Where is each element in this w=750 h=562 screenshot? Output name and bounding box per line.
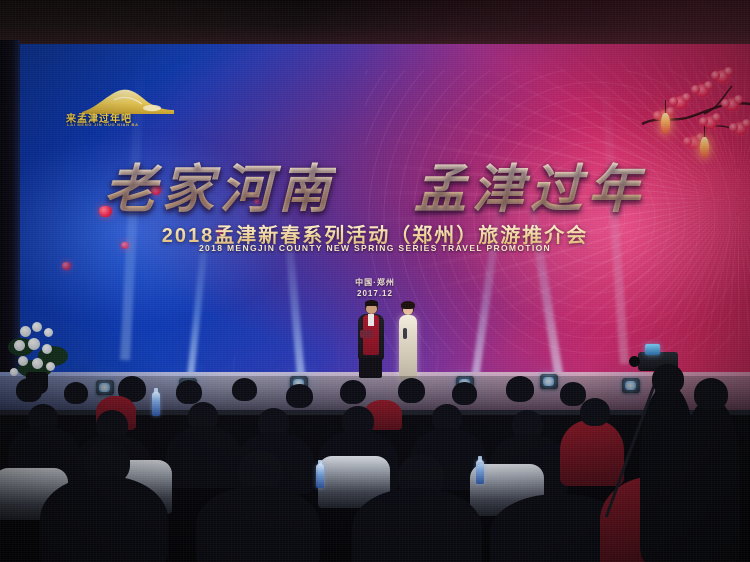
water-bottle — [152, 392, 160, 416]
ceiling-sheen — [0, 0, 750, 48]
male-host — [356, 300, 386, 378]
bystander — [682, 400, 740, 562]
blossom-icon — [726, 98, 739, 111]
blossom-icon — [734, 122, 747, 135]
audience-head — [64, 382, 88, 404]
audience-head — [580, 398, 610, 426]
blossom-icon — [716, 70, 729, 83]
audience-body — [560, 420, 624, 486]
logo-text-pinyin: LAI MENG JIN GUO NIAN BA — [67, 122, 139, 127]
place-label: 中国·郑州 2017.12 — [0, 277, 750, 299]
bystander-head — [694, 378, 728, 410]
event-logo: 来孟津过年吧 LAI MENG JIN GUO NIAN BA — [58, 86, 178, 132]
ceiling-band — [0, 0, 750, 48]
blossom-icon — [704, 116, 717, 129]
audience-head — [560, 382, 586, 406]
audience-head — [340, 380, 366, 404]
audience-body — [352, 488, 482, 562]
blossom-icon — [696, 84, 709, 97]
operator-head — [652, 364, 684, 394]
female-host — [394, 302, 422, 380]
audience-head — [506, 376, 534, 402]
water-bottle — [316, 464, 324, 488]
subtitle-en: 2018 MENGJIN COUNTY NEW SPRING SERIES TR… — [0, 243, 750, 253]
blossom-icon — [674, 96, 687, 109]
plum-blossom-branch — [600, 44, 750, 164]
hanging-lantern-icon — [661, 113, 670, 134]
audience-head — [16, 378, 42, 402]
audience-body — [166, 426, 242, 488]
camera-crew — [624, 330, 744, 562]
camera-monitor — [645, 344, 660, 355]
audience-head — [452, 382, 477, 405]
floating-lantern — [62, 262, 71, 270]
audience-body — [196, 486, 320, 562]
audience-head — [286, 384, 313, 408]
audience-head — [176, 380, 202, 404]
camera-lens-icon — [629, 356, 640, 367]
floating-lantern — [151, 186, 161, 195]
floating-lantern — [99, 206, 112, 217]
place-cn: 中国·郑州 — [0, 277, 750, 288]
hanging-lantern-icon — [700, 137, 709, 158]
audience-body — [40, 476, 168, 562]
audience-head — [232, 378, 257, 401]
audience-head — [398, 378, 425, 403]
event-date: 2017.12 — [0, 288, 750, 299]
event-photo: 来孟津过年吧 LAI MENG JIN GUO NIAN BA 老家河南 孟津过… — [0, 0, 750, 562]
water-bottle — [476, 460, 484, 484]
